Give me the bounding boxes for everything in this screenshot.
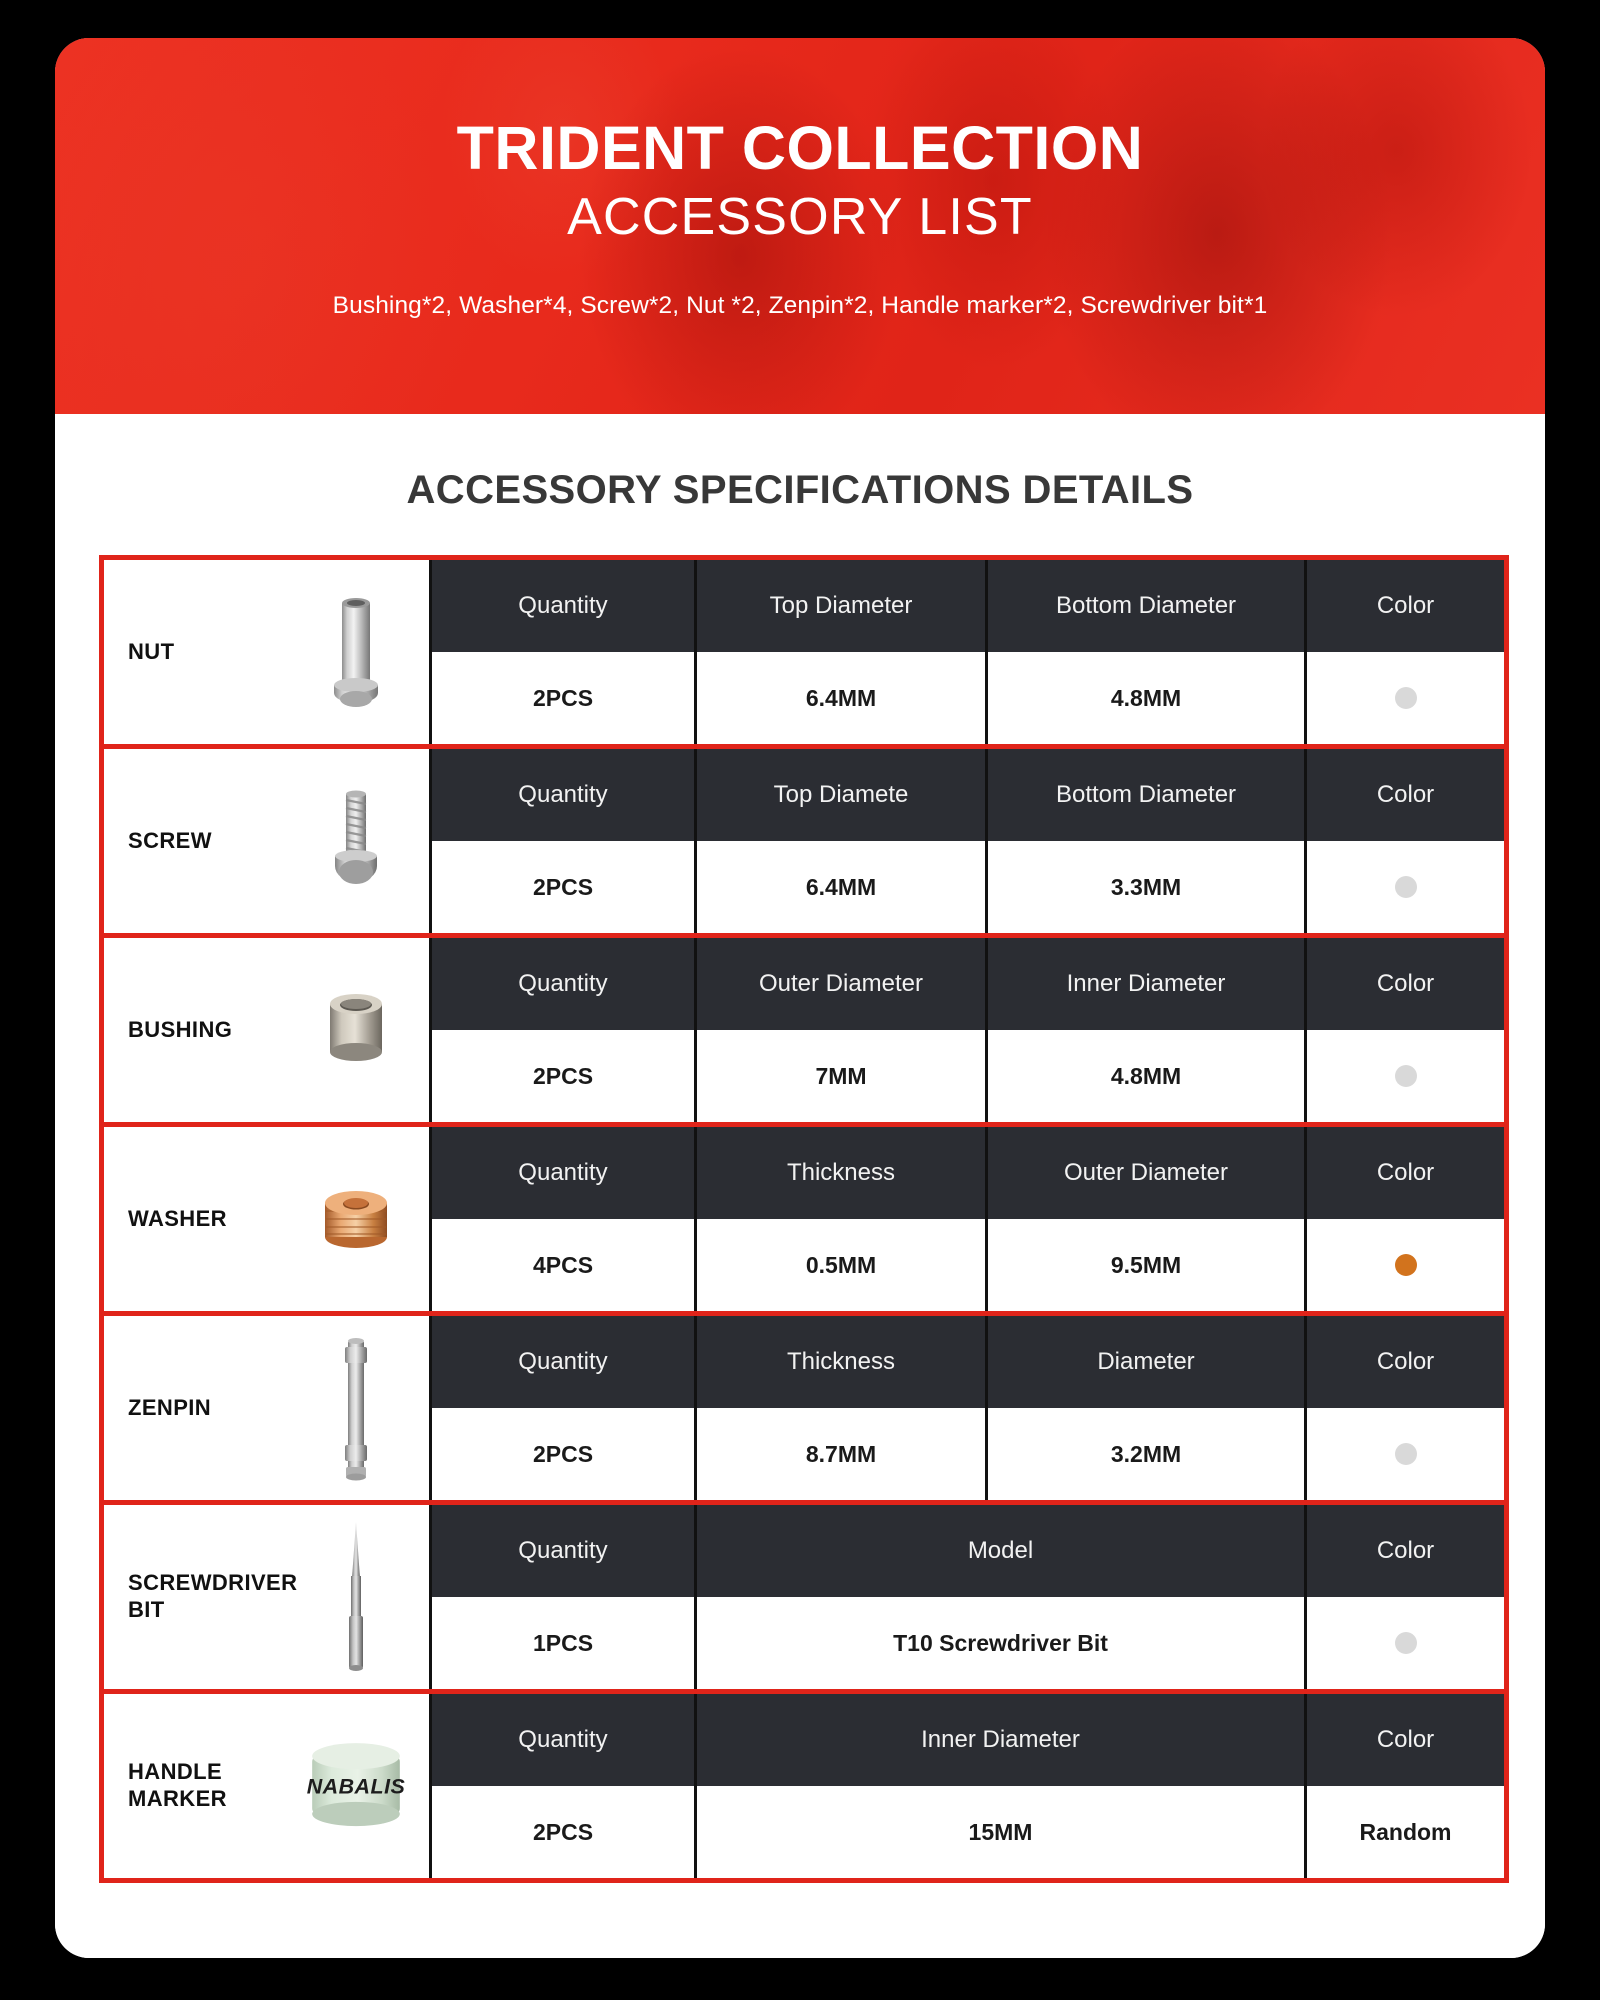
- column-header: Top Diameter: [697, 560, 988, 652]
- item-cell: ZENPIN: [104, 1316, 432, 1500]
- color-swatch: [1395, 1254, 1417, 1276]
- color-swatch-cell: [1307, 1219, 1504, 1311]
- item-cell: SCREW: [104, 749, 432, 933]
- column-header: Quantity: [432, 1694, 697, 1786]
- spec-value-cell: 6.4MM: [697, 841, 988, 933]
- spec-grid: QuantityTop DiameteBottom DiameterColor2…: [432, 749, 1504, 933]
- item-name-label: NUT: [128, 639, 298, 666]
- color-swatch-cell: [1307, 1030, 1504, 1122]
- section-title: ACCESSORY SPECIFICATIONS DETAILS: [99, 468, 1501, 513]
- spec-grid: QuantityModelColor1PCST10 Screwdriver Bi…: [432, 1505, 1504, 1689]
- spec-value-cell: 1PCS: [432, 1597, 697, 1689]
- spec-value-row: 2PCS6.4MM3.3MM: [432, 841, 1504, 933]
- table-row: WASHER QuantityThicknessOuter DiameterCo…: [104, 1127, 1504, 1316]
- color-swatch: [1395, 687, 1417, 709]
- spec-value-cell: 4.8MM: [988, 1030, 1307, 1122]
- spec-value-cell: 3.2MM: [988, 1408, 1307, 1500]
- table-row: SCREW QuantityTop DiameteBottom Diameter…: [104, 749, 1504, 938]
- spec-value-cell: 6.4MM: [697, 652, 988, 744]
- spec-header-row: QuantityThicknessDiameterColor: [432, 1316, 1504, 1408]
- color-swatch-cell: [1307, 652, 1504, 744]
- column-header: Color: [1307, 1316, 1504, 1408]
- svg-text:NABALIS: NABALIS: [307, 1774, 406, 1798]
- spec-value-row: 2PCS8.7MM3.2MM: [432, 1408, 1504, 1500]
- spec-value-cell: 2PCS: [432, 1030, 697, 1122]
- screwdriver-bit-part-icon: [301, 1522, 411, 1672]
- card-body: ACCESSORY SPECIFICATIONS DETAILS NUT Qua…: [55, 414, 1545, 1958]
- column-header: Top Diamete: [697, 749, 988, 841]
- column-header: Bottom Diameter: [988, 749, 1307, 841]
- item-cell: WASHER: [104, 1127, 432, 1311]
- bushing-part-icon: [301, 955, 411, 1105]
- item-name-label: SCREW: [128, 828, 298, 855]
- spec-header-row: QuantityOuter DiameterInner DiameterColo…: [432, 938, 1504, 1030]
- spec-value-cell: 2PCS: [432, 652, 697, 744]
- column-header: Thickness: [697, 1127, 988, 1219]
- table-row: ZENPIN QuantityThicknessDiameterColor2PC…: [104, 1316, 1504, 1505]
- spec-value-row: 2PCS15MMRandom: [432, 1786, 1504, 1878]
- column-header: Color: [1307, 1505, 1504, 1597]
- color-swatch: [1395, 1065, 1417, 1087]
- hero-banner: TRIDENT COLLECTION ACCESSORY LIST Bushin…: [55, 38, 1545, 414]
- column-header: Thickness: [697, 1316, 988, 1408]
- color-swatch-cell: [1307, 1597, 1504, 1689]
- color-value-cell: Random: [1307, 1786, 1504, 1878]
- column-header: Quantity: [432, 749, 697, 841]
- column-header: Color: [1307, 938, 1504, 1030]
- column-header: Inner Diameter: [697, 1694, 1307, 1786]
- hero-parts-list: Bushing*2, Washer*4, Screw*2, Nut *2, Ze…: [55, 292, 1545, 320]
- column-header: Color: [1307, 749, 1504, 841]
- spec-grid: QuantityTop DiameterBottom DiameterColor…: [432, 560, 1504, 744]
- column-header: Quantity: [432, 1127, 697, 1219]
- item-cell: SCREWDRIVER BIT: [104, 1505, 432, 1689]
- spec-value-cell: 9.5MM: [988, 1219, 1307, 1311]
- item-name-label: ZENPIN: [128, 1395, 298, 1422]
- item-cell: BUSHING: [104, 938, 432, 1122]
- column-header: Diameter: [988, 1316, 1307, 1408]
- item-name-label: BUSHING: [128, 1017, 298, 1044]
- spec-value-row: 2PCS6.4MM4.8MM: [432, 652, 1504, 744]
- spec-header-row: QuantityModelColor: [432, 1505, 1504, 1597]
- spec-value-row: 4PCS0.5MM9.5MM: [432, 1219, 1504, 1311]
- spec-grid: QuantityThicknessOuter DiameterColor4PCS…: [432, 1127, 1504, 1311]
- item-name-label: SCREWDRIVER BIT: [128, 1570, 298, 1624]
- column-header: Outer Diameter: [697, 938, 988, 1030]
- spec-value-cell: 3.3MM: [988, 841, 1307, 933]
- handle-marker-part-icon: NABALIS: [301, 1711, 411, 1861]
- spec-value-cell: 8.7MM: [697, 1408, 988, 1500]
- spec-header-row: QuantityTop DiameteBottom DiameterColor: [432, 749, 1504, 841]
- spec-value-cell: 2PCS: [432, 841, 697, 933]
- nut-part-icon: [301, 577, 411, 727]
- spec-value-cell: T10 Screwdriver Bit: [697, 1597, 1307, 1689]
- hero-title: TRIDENT COLLECTION: [55, 116, 1545, 181]
- column-header: Color: [1307, 560, 1504, 652]
- color-swatch: [1395, 876, 1417, 898]
- table-row: NUT QuantityTop DiameterBottom DiameterC…: [104, 560, 1504, 749]
- specifications-table: NUT QuantityTop DiameterBottom DiameterC…: [99, 555, 1509, 1883]
- spec-value-cell: 15MM: [697, 1786, 1307, 1878]
- zenpin-part-icon: [301, 1333, 411, 1483]
- item-cell: NUT: [104, 560, 432, 744]
- column-header: Bottom Diameter: [988, 560, 1307, 652]
- screw-part-icon: [301, 766, 411, 916]
- table-row: HANDLE MARKER NABALIS QuantityInner Diam…: [104, 1694, 1504, 1878]
- column-header: Model: [697, 1505, 1307, 1597]
- spec-value-cell: 7MM: [697, 1030, 988, 1122]
- item-cell: HANDLE MARKER NABALIS: [104, 1694, 432, 1878]
- spec-value-row: 1PCST10 Screwdriver Bit: [432, 1597, 1504, 1689]
- spec-value-cell: 4.8MM: [988, 652, 1307, 744]
- spec-header-row: QuantityTop DiameterBottom DiameterColor: [432, 560, 1504, 652]
- spec-value-cell: 4PCS: [432, 1219, 697, 1311]
- column-header: Quantity: [432, 938, 697, 1030]
- column-header: Inner Diameter: [988, 938, 1307, 1030]
- spec-header-row: QuantityInner DiameterColor: [432, 1694, 1504, 1786]
- spec-grid: QuantityThicknessDiameterColor2PCS8.7MM3…: [432, 1316, 1504, 1500]
- spec-value-cell: 2PCS: [432, 1786, 697, 1878]
- table-row: BUSHING QuantityOuter DiameterInner Diam…: [104, 938, 1504, 1127]
- color-swatch: [1395, 1632, 1417, 1654]
- hero-content: TRIDENT COLLECTION ACCESSORY LIST Bushin…: [55, 38, 1545, 320]
- washer-part-icon: [301, 1144, 411, 1294]
- spec-value-cell: 0.5MM: [697, 1219, 988, 1311]
- page-root: TRIDENT COLLECTION ACCESSORY LIST Bushin…: [0, 0, 1600, 2000]
- item-name-label: WASHER: [128, 1206, 298, 1233]
- column-header: Quantity: [432, 1505, 697, 1597]
- column-header: Color: [1307, 1694, 1504, 1786]
- spec-grid: QuantityInner DiameterColor2PCS15MMRando…: [432, 1694, 1504, 1878]
- hero-subtitle: ACCESSORY LIST: [55, 187, 1545, 248]
- accessory-card: TRIDENT COLLECTION ACCESSORY LIST Bushin…: [55, 38, 1545, 1958]
- color-swatch-cell: [1307, 1408, 1504, 1500]
- column-header: Outer Diameter: [988, 1127, 1307, 1219]
- color-swatch: [1395, 1443, 1417, 1465]
- table-row: SCREWDRIVER BIT QuantityModelColor1PCST1…: [104, 1505, 1504, 1694]
- column-header: Quantity: [432, 1316, 697, 1408]
- spec-value-row: 2PCS7MM4.8MM: [432, 1030, 1504, 1122]
- spec-grid: QuantityOuter DiameterInner DiameterColo…: [432, 938, 1504, 1122]
- spec-value-cell: 2PCS: [432, 1408, 697, 1500]
- item-name-label: HANDLE MARKER: [128, 1759, 298, 1813]
- color-swatch-cell: [1307, 841, 1504, 933]
- column-header: Quantity: [432, 560, 697, 652]
- column-header: Color: [1307, 1127, 1504, 1219]
- spec-header-row: QuantityThicknessOuter DiameterColor: [432, 1127, 1504, 1219]
